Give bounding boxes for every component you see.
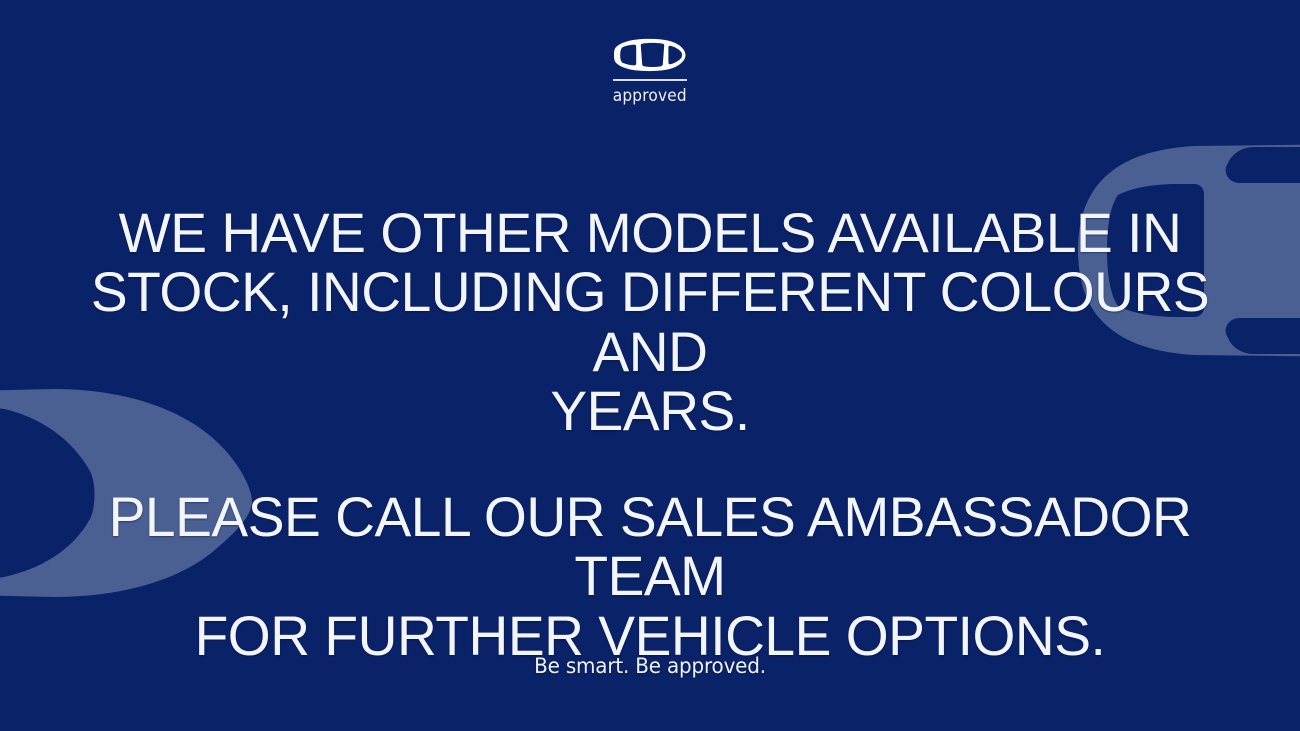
car-top-view-icon [613,38,687,72]
headline-primary-line-1: WE HAVE OTHER MODELS AVAILABLE IN [79,203,1222,262]
brand-logo-lockup: approved [0,38,1300,105]
headline-primary: WE HAVE OTHER MODELS AVAILABLE IN STOCK,… [0,203,1300,440]
headline-primary-line-3: YEARS. [79,381,1222,440]
headline-secondary: PLEASE CALL OUR SALES AMBASSADOR TEAM FO… [0,487,1300,665]
headline-primary-line-2: STOCK, INCLUDING DIFFERENT COLOURS AND [79,262,1222,381]
logo-divider [613,79,687,81]
slide-canvas: approved WE HAVE OTHER MODELS AVAILABLE … [0,0,1300,731]
brand-tagline: Be smart. Be approved. [33,654,1268,678]
headline-secondary-line-1: PLEASE CALL OUR SALES AMBASSADOR TEAM [79,487,1222,606]
logo-wordmark: approved [613,88,687,105]
